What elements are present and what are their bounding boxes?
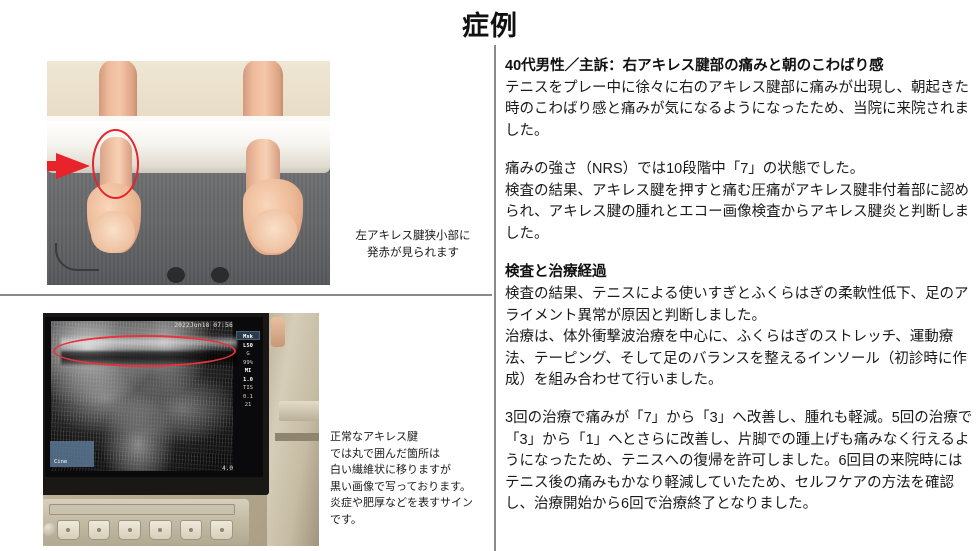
photo-floor-hole [211,267,229,283]
photo-right-sole [251,209,297,253]
ultrasound-control-console [43,499,249,545]
ultrasound-preset-label: Msk [235,333,261,342]
ultrasound-tis-label: TIS [235,384,261,393]
case-paragraph-outcome: 3回の治療で痛みが「7」から「3」へ改善し、腫れも軽減。5回の治療で「3」から「… [505,408,973,515]
case-heading-treatment-course: 検査と治療経過 [505,262,973,283]
ultrasound-console-button[interactable] [88,520,111,540]
ultrasound-probe-label: L50 [235,342,261,351]
ultrasound-screen: 2022Jun18 07:56 Msk L50 G 99% MI 1.0 TIS… [45,317,263,477]
red-arrow-annotation-icon [47,153,90,179]
ultrasound-room-shelf [275,433,319,441]
case-description-column: 40代男性／主訴：右アキレス腱部の痛みと朝のこわばり感 テニスをプレー中に徐々に… [505,56,973,516]
photo-left-sole [91,211,135,253]
ultrasound-gain-label: G [235,350,261,359]
ultrasound-cine-label: Cine [54,459,67,465]
ultrasound-console-buttons[interactable] [57,520,233,540]
ultrasound-room-shelf [279,401,319,421]
red-ellipse-annotation-icon [53,335,236,367]
ultrasound-console-button[interactable] [210,520,233,540]
ultrasound-tis-value: 0.1 [235,393,261,402]
ultrasound-depth-value: 4.0 [222,465,233,472]
ultrasound-photo: 2022Jun18 07:56 Msk L50 G 99% MI 1.0 TIS… [43,313,319,546]
red-ellipse-annotation-icon [92,129,139,199]
photo-floor-hole [167,267,185,283]
ultrasound-console-button[interactable] [118,520,141,540]
ultrasound-room-wall [267,313,319,546]
ultrasound-console-button[interactable] [57,520,80,540]
ultrasound-patient-arm [271,317,285,347]
case-heading-chief-complaint: 40代男性／主訴：右アキレス腱部の痛みと朝のこわばり感 [505,56,973,77]
ultrasound-parameter-column: Msk L50 G 99% MI 1.0 TIS 0.1 21 [235,333,261,410]
clinical-photo [47,61,330,285]
ultrasound-photo-caption: 正常なアキレス腱 では丸で囲んだ箇所は 白い繊維状に移りますが 黒い画像で写って… [330,429,492,528]
ultrasound-console-knob[interactable] [43,523,57,537]
ultrasound-framerate-value: 21 [235,401,261,410]
ultrasound-mi-label: MI [235,367,261,376]
ultrasound-console-button[interactable] [180,520,203,540]
case-paragraph-findings: 痛みの強さ（NRS）では10段階中「7」の状態でした。 検査の結果、アキレス腱を… [505,159,973,245]
ultrasound-monitor-bezel: 2022Jun18 07:56 Msk L50 G 99% MI 1.0 TIS… [43,313,269,495]
ultrasound-timestamp: 2022Jun18 07:56 [174,322,233,329]
clinical-photo-caption: 左アキレス腱狭小部に 発赤が見られます [338,228,488,261]
ultrasound-console-slot [49,504,235,515]
page-title: 症例 [0,4,980,43]
case-paragraph-treatment-plan: 検査の結果、テニスによる使いすぎとふくらはぎの柔軟性低下、足のアライメント異常が… [505,284,973,391]
ultrasound-console-button[interactable] [149,520,172,540]
ultrasound-gain-value: 99% [235,359,261,368]
left-column: 左アキレス腱狭小部に 発赤が見られます 2022Jun18 07:56 Msk … [0,45,492,551]
ultrasound-mi-value: 1.0 [235,376,261,385]
case-paragraph-history: テニスをプレー中に徐々に右のアキレス腱部に痛みが出現し、朝起きた時のこわばり感と… [505,78,973,142]
vertical-divider [494,45,496,551]
